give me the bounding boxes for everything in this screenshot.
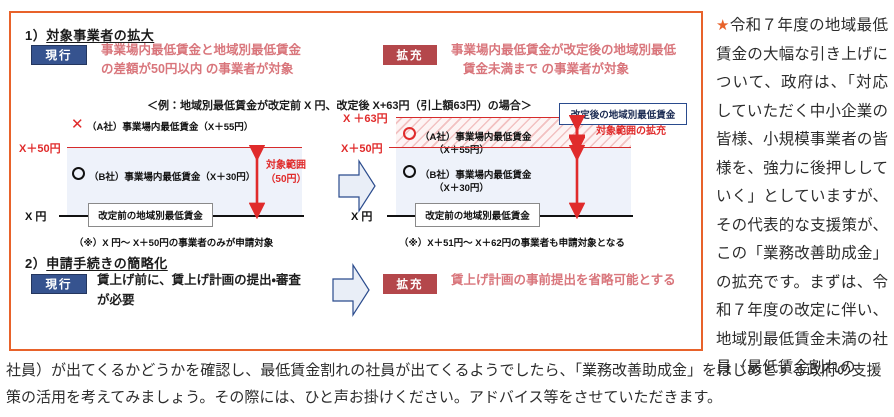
section2-number: 2）: [25, 256, 46, 271]
right-line-x-plus-50: [389, 147, 631, 148]
left-range-label: 対象範囲 （50円）: [263, 159, 309, 187]
right-base-wage-box: 改定前の地域別最低賃金: [415, 203, 540, 227]
company-b-circle-icon: [72, 167, 85, 180]
bottom-paragraph: 社員）が出てくるかどうかを確認し、最低賃金割れの社員が出てくるようでしたら、「業…: [6, 358, 890, 412]
right-expand-range-label: 対象範囲の拡充: [586, 125, 676, 139]
left-axis-label-x50: X＋50円: [19, 140, 61, 156]
star-icon: ★: [716, 18, 730, 34]
section1-current-line2: の差額が50円以内 の事業者が対象: [101, 60, 293, 78]
left-range-label-line2: （50円）: [265, 174, 306, 185]
company-a-label: （A社）事業場内最低賃金（X＋55円）: [87, 119, 253, 133]
side-column-text: ★令和７年度の地域最低賃金の大幅な引き上げについて、政府は、「対応していただく中…: [716, 12, 888, 383]
company-a-x-mark: ✕: [71, 117, 84, 132]
left-axis-label-x: X 円: [25, 208, 46, 224]
company-b-label-line1: （B社）事業場内最低賃金: [420, 167, 531, 181]
right-axis-label-x63: X ＋63円: [343, 110, 388, 126]
company-b-label-line2: （X＋30円）: [434, 180, 489, 194]
section2-expand-badge: 拡充: [383, 274, 437, 294]
right-axis-label-x50: X＋50円: [341, 140, 383, 156]
company-a-label-line2: （X＋55円）: [434, 142, 489, 156]
left-range-label-line1: 対象範囲: [266, 160, 306, 171]
transition-arrow-icon-1: [337, 157, 377, 215]
section2-expand-line1: 賃上げ計画の事前提出を省略可能とする: [451, 271, 676, 289]
transition-arrow-icon-2: [331, 261, 371, 319]
company-b-circle-icon-right: [403, 165, 416, 178]
section2-heading: 2）申請手続きの簡略化: [25, 253, 168, 272]
section2-current-line1: 賃上げ前に、賃上げ計画の提出・審査: [97, 271, 301, 289]
company-a-circle-icon: [403, 127, 416, 140]
section1-expand-badge: 拡充: [383, 45, 437, 65]
company-b-label: （B社）事業場内最低賃金（X＋30円）: [89, 169, 255, 183]
section2-current-line2: が必要: [97, 291, 135, 309]
section1-expand-line1: 事業場内最低賃金が改定後の地域別最低: [451, 41, 676, 59]
right-range-arrow-icon: [569, 145, 585, 219]
company-a-label-line1: （A社）事業場内最低賃金: [420, 129, 531, 143]
section1-current-line1: 事業場内最低賃金と地域別最低賃金: [101, 41, 301, 59]
right-diagram-note: （※）X＋51円〜 X＋62円の事業者も申請対象となる: [399, 235, 625, 249]
section1-expand-line2: 賃金未満まで の事業者が対象: [463, 60, 629, 78]
section2-current-badge: 現行: [31, 274, 87, 294]
left-base-wage-box: 改定前の地域別最低賃金: [88, 203, 213, 227]
left-diagram-note: （※）X 円〜 X＋50円の事業者のみが申請対象: [74, 235, 273, 249]
main-panel: 1）対象事業者の拡大 現行 事業場内最低賃金と地域別最低賃金 の差額が50円以内…: [9, 11, 703, 351]
right-axis-label-x: X 円: [351, 208, 372, 224]
section2-title: 申請手続きの簡略化: [46, 256, 168, 271]
section1-number: 1）: [25, 28, 46, 43]
page-root: 1）対象事業者の拡大 現行 事業場内最低賃金と地域別最低賃金 の差額が50円以内…: [0, 0, 894, 417]
left-line-x-plus-50: [67, 147, 302, 148]
example-condition-line: ＜例：地域別最低賃金が改定前 X 円、改定後 X+63円（引上額63円）の場合＞: [147, 97, 532, 113]
section1-current-badge: 現行: [31, 45, 87, 65]
side-column-body: 令和７年度の地域最低賃金の大幅な引き上げについて、政府は、「対応していただく中小…: [716, 17, 888, 376]
